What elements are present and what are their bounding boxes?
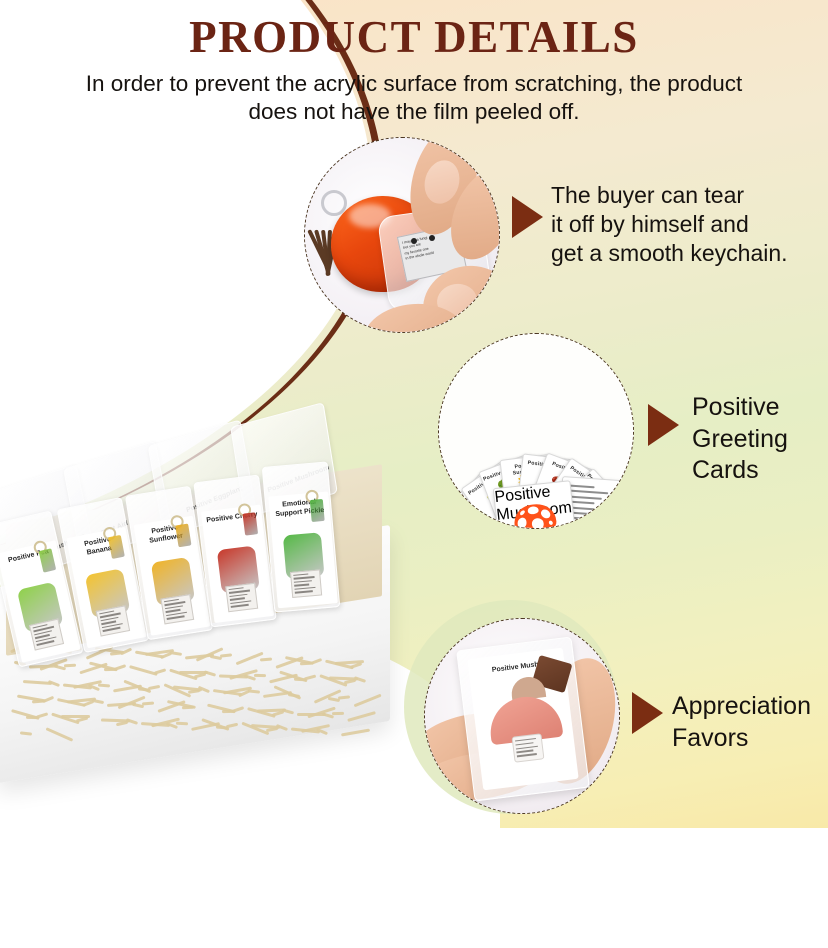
photo-keychain-film-peel: I may be a fungibut you are my favorite …: [304, 137, 500, 333]
shred: [341, 729, 370, 736]
greeting-card-front: Positive Mushroom🍄: [493, 480, 580, 529]
keychain-packet: Emotional Support Pickle: [262, 461, 340, 612]
callout-3-line-2: Favors: [672, 723, 811, 755]
packet-message-tag: [160, 594, 194, 624]
callout-2-line-2: Greeting: [692, 424, 788, 456]
callout-2-line-1: Positive: [692, 392, 788, 424]
shred: [61, 715, 90, 718]
callout-greeting-cards: Positive Greeting Cards: [692, 392, 788, 487]
charm-eye-left: [411, 238, 417, 244]
subtitle-line-1: In order to prevent the acrylic surface …: [22, 70, 806, 98]
callout-3-line-1: Appreciation: [672, 691, 811, 723]
triangle-right-icon: [632, 692, 663, 734]
shred: [176, 722, 188, 725]
page-title: PRODUCT DETAILS: [0, 14, 828, 61]
callout-2-line-3: Cards: [692, 455, 788, 487]
greeting-cards-scene: Positive Mushroom🍄Positive Pickle🥒Positi…: [439, 334, 633, 528]
callout-1-line-1: The buyer can tear: [551, 181, 788, 210]
charm-eye-right: [429, 235, 435, 241]
packet-message-tag: [290, 569, 322, 598]
packet-tassel: [310, 499, 325, 522]
triangle-right-icon: [512, 196, 543, 238]
packet-message-tag: [29, 619, 64, 651]
greeting-card-art: 🍄: [509, 505, 563, 529]
shred: [332, 712, 344, 715]
callout-1-line-2: it off by himself and: [551, 210, 788, 239]
charm-message-tag: [512, 733, 545, 762]
packet-tassel: [243, 512, 259, 535]
callout-appreciation-favors: Appreciation Favors: [672, 691, 811, 754]
photo-packaged-favor: Positive Mushroom: [424, 618, 620, 814]
subtitle-line-2: does not have the film peeled off.: [22, 98, 806, 126]
packet-backing-card: Positive Cherry: [201, 505, 274, 623]
keychain-scene: I may be a fungibut you are my favorite …: [305, 138, 499, 332]
packet-backing-card: Emotional Support Pickle: [268, 491, 338, 608]
packet-message-tag: [96, 605, 130, 636]
photo-greeting-cards-fan: Positive Mushroom🍄Positive Pickle🥒Positi…: [438, 333, 634, 529]
triangle-right-icon: [648, 404, 679, 446]
header: PRODUCT DETAILS In order to prevent the …: [0, 14, 828, 127]
shred: [254, 674, 266, 677]
callout-tear-film: The buyer can tear it off by himself and…: [551, 181, 788, 268]
page-subtitle: In order to prevent the acrylic surface …: [0, 70, 828, 126]
gift-box-photo: Positive MushroomFirst AidPositive Eggpl…: [0, 398, 416, 828]
packet-message-tag: [225, 583, 258, 612]
callout-1-line-3: get a smooth keychain.: [551, 239, 788, 268]
favor-scene: Positive Mushroom: [425, 619, 619, 813]
